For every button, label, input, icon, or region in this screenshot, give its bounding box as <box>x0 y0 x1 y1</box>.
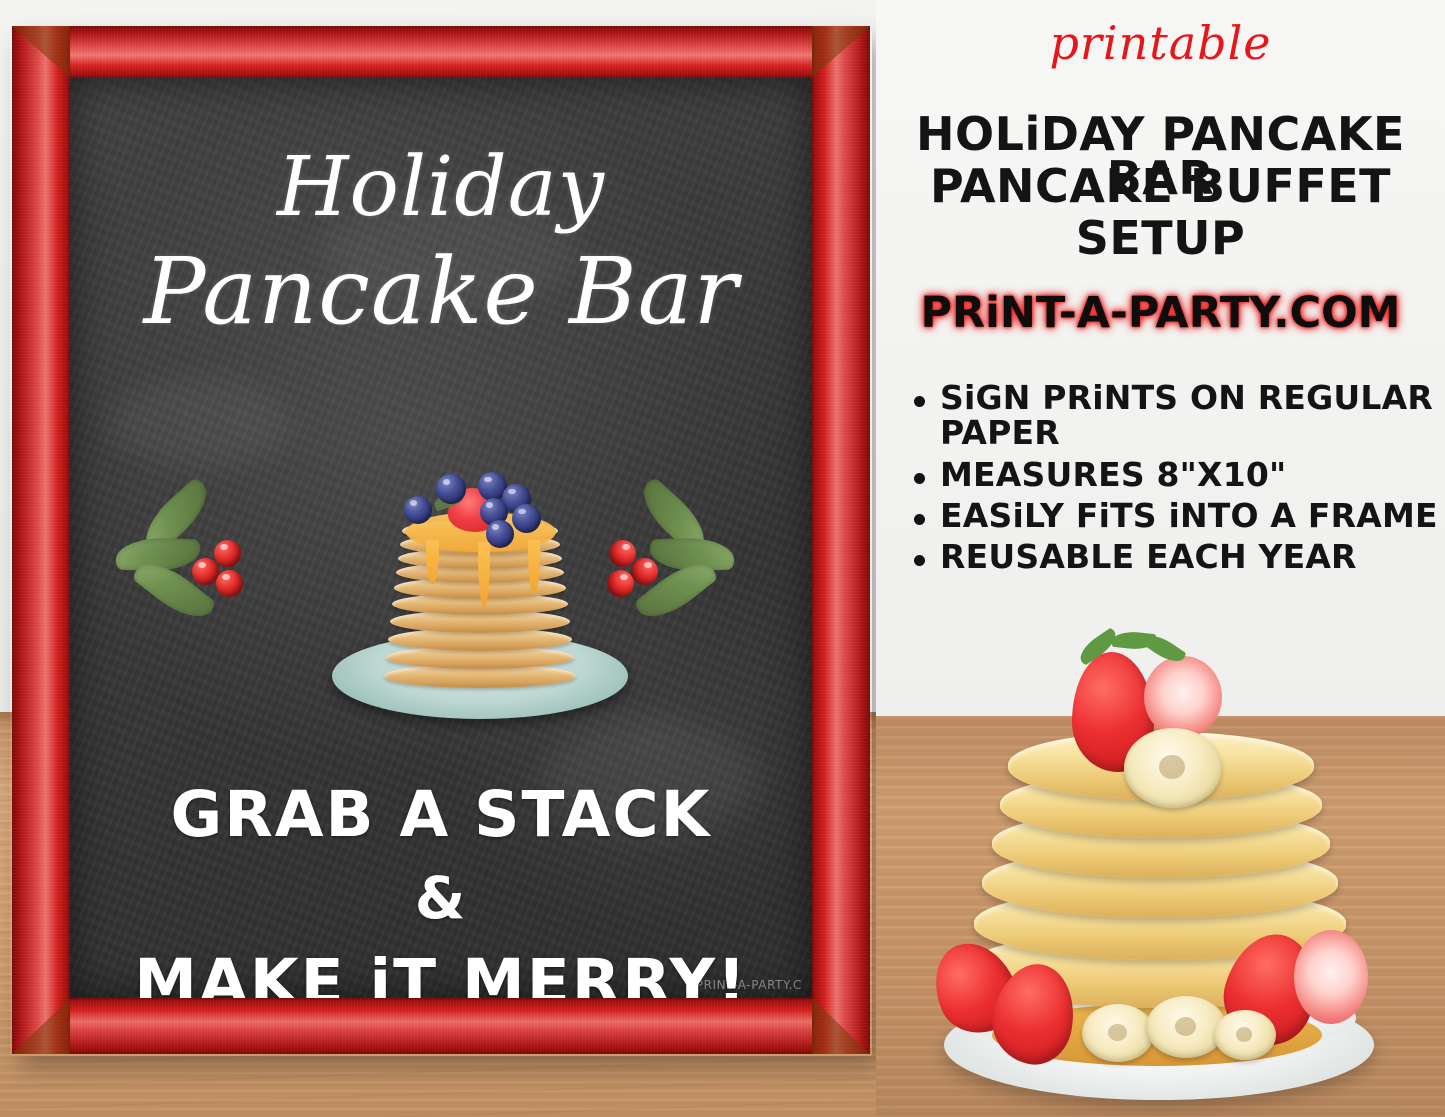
illustration-pancake-stack <box>382 496 578 686</box>
photo-strawberry-slice <box>1144 656 1222 738</box>
frame-miter-bottom-right <box>812 998 870 1054</box>
list-item: SiGN PRiNTS ON REGULAR PAPER <box>940 380 1445 451</box>
holly-berry <box>609 540 636 567</box>
info-panel: printable HOLiDAY PANCAKE BAR PANCAKE BU… <box>876 0 1445 1117</box>
sign-message-line-2: & <box>70 864 812 932</box>
frame-bevel-bottom <box>12 998 870 1054</box>
photo-strawberry-slice <box>1294 930 1368 1024</box>
photo-banana-slice <box>1146 996 1226 1058</box>
holly-berry <box>631 558 658 585</box>
picture-frame: Holiday Pancake Bar <box>12 26 870 1054</box>
panel-title-line-2: PANCAKE BUFFET <box>882 164 1439 208</box>
sign-script-line-2: Pancake Bar <box>70 238 812 345</box>
sign-watermark: PRINT-A-PARTY.C <box>696 978 802 992</box>
holly-sprig-left <box>122 478 272 610</box>
photo-banana-slice <box>1082 1004 1154 1062</box>
frame-bevel-right <box>812 26 870 1054</box>
sign-message-line-1: GRAB A STACK <box>70 778 812 851</box>
illustration-blueberry <box>404 496 432 524</box>
holly-berry <box>214 540 241 567</box>
frame-miter-top-right <box>812 26 870 78</box>
product-listing-image: Holiday Pancake Bar <box>0 0 1445 1117</box>
holly-berry <box>216 570 243 597</box>
illustration-blueberry <box>512 504 541 533</box>
illustration-blueberry <box>436 474 466 504</box>
illustration-blueberry <box>486 520 514 548</box>
sign-script-line-1: Holiday <box>70 140 812 235</box>
brand-url[interactable]: PRiNT-A-PARTY.COM <box>876 288 1445 338</box>
feature-list: SiGN PRiNTS ON REGULAR PAPER MEASURES 8"… <box>906 380 1445 580</box>
chalkboard-sign: Holiday Pancake Bar <box>70 78 812 998</box>
chalk-smudge <box>110 378 290 468</box>
list-item: EASiLY FiTS iNTO A FRAME <box>940 498 1445 533</box>
holly-sprig-right <box>578 478 728 610</box>
pancake-photo <box>896 612 1426 1112</box>
list-item: MEASURES 8"X10" <box>940 457 1445 492</box>
frame-bevel-top <box>12 26 870 78</box>
frame-miter-top-left <box>12 26 70 78</box>
list-item: REUSABLE EACH YEAR <box>940 539 1445 574</box>
photo-banana-slice <box>1214 1010 1276 1060</box>
holly-berry <box>607 570 634 597</box>
holly-berry <box>192 558 219 585</box>
photo-banana-slice <box>1124 728 1222 808</box>
frame-miter-bottom-left <box>12 998 70 1054</box>
printable-badge: printable <box>876 16 1445 70</box>
panel-title-line-3: SETUP <box>882 216 1439 260</box>
frame-bevel-left <box>12 26 70 1054</box>
